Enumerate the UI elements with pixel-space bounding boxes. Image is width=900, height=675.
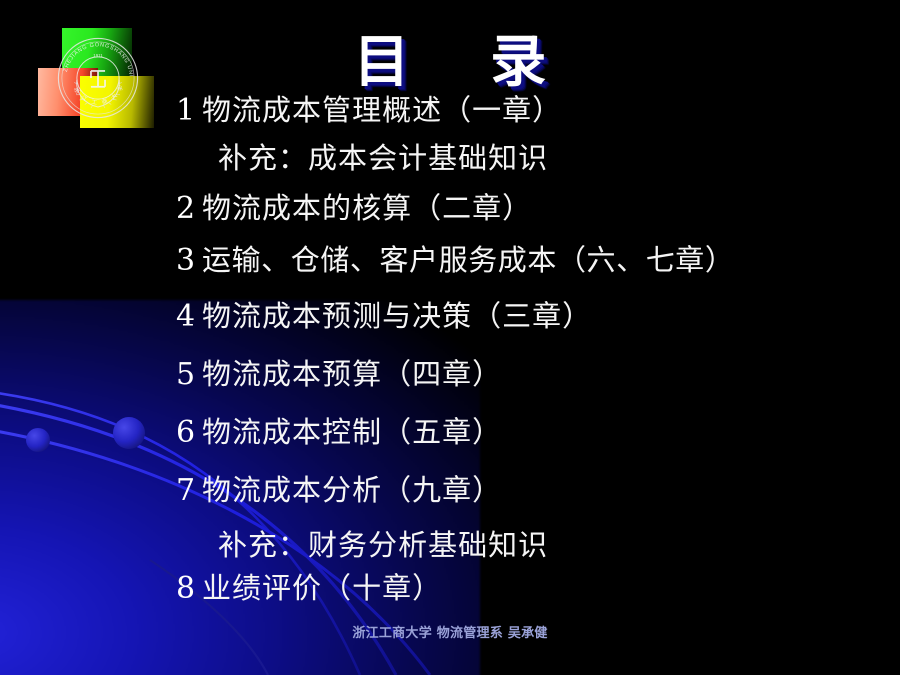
slide-footer: 浙江工商大学 物流管理系 吴承健: [0, 622, 900, 642]
toc-item-2[interactable]: 2 物流成本的核算（二章）: [176, 194, 896, 246]
orbit-dot-right: [113, 417, 145, 449]
toc-label: 业绩评价（十章）: [202, 574, 442, 603]
orbit-dot-left: [26, 428, 50, 452]
toc-number: 8: [176, 574, 202, 604]
toc-number: 3: [176, 246, 202, 276]
toc-item-6[interactable]: 6 物流成本控制（五章）: [176, 418, 896, 476]
toc-label: 物流成本控制（五章）: [202, 418, 502, 447]
toc-label: 物流成本管理概述（一章）: [202, 96, 562, 125]
presentation-slide: ZHEJIANG GONGSHANG UNIVERSITY 浙 江 工 商 大 …: [0, 0, 900, 675]
toc-number: 6: [176, 418, 202, 448]
toc-label: 物流成本的核算（二章）: [202, 194, 532, 223]
slide-title: 目 录: [0, 34, 900, 90]
toc-number: 4: [176, 302, 202, 332]
toc-item-8[interactable]: 8 业绩评价（十章）: [176, 574, 896, 614]
table-of-contents: 1 物流成本管理概述（一章） 补充：成本会计基础知识 2 物流成本的核算（二章）…: [176, 96, 896, 614]
toc-number: 1: [176, 96, 202, 126]
toc-label: 补充：财务分析基础知识: [202, 531, 548, 560]
toc-item-7[interactable]: 7 物流成本分析（九章）: [176, 476, 896, 531]
toc-label: 补充：成本会计基础知识: [202, 144, 548, 173]
toc-label: 物流成本预算（四章）: [202, 360, 502, 389]
toc-item-7-supplement[interactable]: 补充：财务分析基础知识: [176, 531, 896, 574]
toc-item-1[interactable]: 1 物流成本管理概述（一章）: [176, 96, 896, 144]
toc-number: 5: [176, 360, 202, 390]
footer-text: 浙江工商大学 物流管理系 吴承健: [352, 626, 547, 641]
toc-item-3[interactable]: 3 运输、仓储、客户服务成本（六、七章）: [176, 246, 896, 302]
toc-label: 物流成本分析（九章）: [202, 476, 502, 505]
toc-number: 2: [176, 194, 202, 224]
toc-label: 物流成本预测与决策（三章）: [202, 302, 592, 331]
toc-item-5[interactable]: 5 物流成本预算（四章）: [176, 360, 896, 418]
toc-item-4[interactable]: 4 物流成本预测与决策（三章）: [176, 302, 896, 360]
toc-label: 运输、仓储、客户服务成本（六、七章）: [202, 246, 734, 275]
toc-item-1-supplement[interactable]: 补充：成本会计基础知识: [176, 144, 896, 194]
page-title: 目 录: [341, 34, 558, 90]
toc-number: 7: [176, 476, 202, 506]
